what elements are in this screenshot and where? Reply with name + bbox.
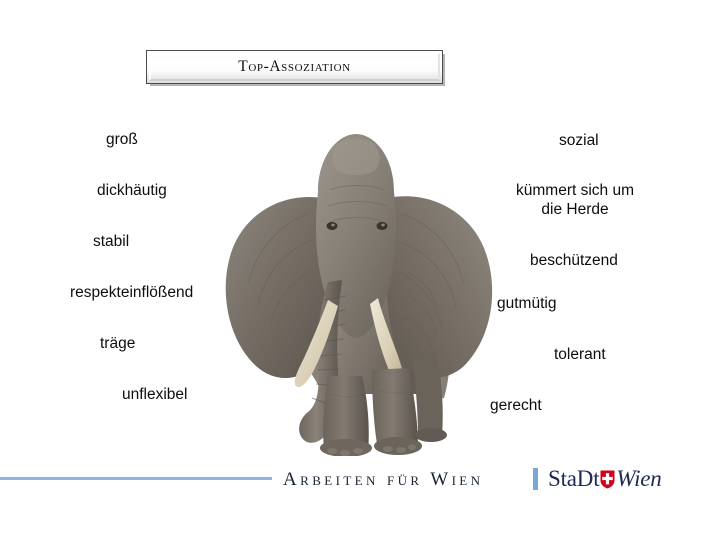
slide-title-box: Top-Assoziation (146, 50, 443, 84)
association-word: stabil (93, 232, 129, 251)
association-word: dickhäutig (97, 181, 167, 200)
association-word: beschützend (530, 251, 618, 270)
association-word: unflexibel (122, 385, 188, 404)
association-word: gerecht (490, 396, 542, 415)
association-word: groß (106, 130, 138, 149)
logo-word-wien: Wien (616, 466, 661, 492)
association-word: kümmert sich um die Herde (510, 181, 640, 219)
footer-claim: Arbeiten für Wien (283, 468, 483, 492)
association-word: respekteinflößend (70, 283, 193, 302)
presentation-slide: Top-Assoziation (0, 0, 720, 540)
association-word: tolerant (554, 345, 606, 364)
footer-separator-bar (533, 468, 538, 490)
footer-divider-rule (0, 477, 272, 480)
elephant-photo (212, 94, 502, 456)
association-word: sozial (559, 131, 599, 150)
stadt-wien-logo: StaDt Wien (548, 465, 662, 493)
association-word: träge (100, 334, 135, 353)
vienna-shield-icon (600, 470, 615, 489)
page-title: Top-Assoziation (147, 51, 442, 83)
association-word: gutmütig (497, 294, 556, 313)
logo-word-stadt: StaDt (548, 466, 599, 492)
